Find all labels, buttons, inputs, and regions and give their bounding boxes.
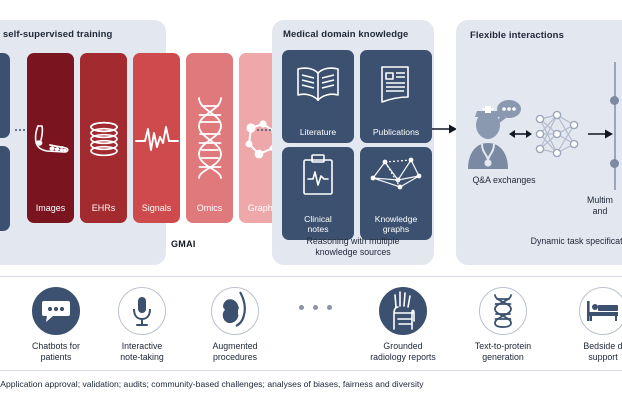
knowledge-card-label: Knowledge graphs [360, 214, 432, 234]
modality-card-images[interactable]: Images [27, 53, 74, 223]
application-label: Text-to-protein generation [466, 341, 540, 362]
footer-bar: : Application approval; validation; audi… [0, 370, 622, 401]
knowledge-card-publications[interactable]: Publications [360, 50, 432, 143]
stomach-endoscopy-icon [211, 287, 259, 335]
knowledge-card-label: Publications [360, 127, 432, 137]
document-pages-icon [360, 60, 432, 110]
modality-label: Omics [186, 203, 233, 213]
modality-card-signals[interactable]: Signals [133, 53, 180, 223]
modality-label: Signals [133, 203, 180, 213]
knowledge-card-label: Clinical notes [282, 214, 354, 234]
application-interactive-note-taking[interactable]: Interactive note-taking [105, 287, 179, 362]
bidirectional-arrow-icon [509, 127, 532, 145]
application-grounded-radiology-reports[interactable]: Grounded radiology reports [366, 287, 440, 362]
knowledge-card-literature[interactable]: Literature [282, 50, 354, 143]
clipboard-ecg-icon [282, 153, 354, 197]
partial-card-bottom [0, 146, 10, 231]
panel-interactions-title: Flexible interactions [470, 30, 564, 41]
modality-label: EHRs [80, 203, 127, 213]
open-book-icon [282, 60, 354, 110]
knowledge-card-clinical-notes[interactable]: Clinical notes [282, 147, 354, 240]
application-label: Interactive note-taking [105, 341, 179, 362]
dna-helix-icon [186, 93, 233, 183]
application-label: Augmented procedures [198, 341, 272, 362]
timeline-axis [614, 62, 616, 190]
timeline-node-top [610, 96, 619, 105]
microphone-icon [118, 287, 166, 335]
ecg-waveform-icon [133, 105, 180, 175]
multimodal-output-caption: Multim and [560, 195, 622, 216]
application-bedside-decision-support[interactable]: Bedside d support [566, 287, 622, 362]
node-graph-icon [360, 155, 432, 197]
application-chatbots-for-patients[interactable]: Chatbots for patients [19, 287, 93, 362]
database-icon [80, 105, 127, 175]
knowledge-card-label: Literature [282, 127, 354, 137]
speech-bubble-icon [32, 287, 80, 335]
application-label: Chatbots for patients [19, 341, 93, 362]
application-augmented-procedures[interactable]: Augmented procedures [198, 287, 272, 362]
applications-row: s Chatbots for patients [0, 276, 622, 371]
knowledge-caption: Reasoning with multiple knowledge source… [276, 236, 430, 257]
panel-training-title: al self-supervised training [0, 29, 112, 40]
footer-text: : Application approval; validation; audi… [0, 379, 424, 389]
application-label: Grounded radiology reports [366, 341, 440, 362]
knowledge-card-knowledge-graphs[interactable]: Knowledge graphs [360, 147, 432, 240]
applications-ellipsis [299, 305, 332, 310]
panel-knowledge-title: Medical domain knowledge [283, 29, 408, 40]
application-label: Bedside d support [566, 341, 622, 362]
application-text-to-protein-generation[interactable]: Text-to-protein generation [466, 287, 540, 362]
timeline-node-bottom [610, 159, 619, 168]
figure-root: al self-supervised training [0, 0, 622, 400]
qa-exchanges-label: Q&A exchanges [466, 175, 542, 186]
dna-helix-icon [479, 287, 527, 335]
output-arrow-icon [588, 127, 614, 145]
hand-xray-icon [379, 287, 427, 335]
dynamic-task-specification-caption: Dynamic task specificatio [500, 236, 622, 247]
hospital-bed-icon [579, 287, 622, 335]
flow-arrow-icon [432, 122, 458, 140]
foot-xray-icon [27, 105, 74, 175]
modality-label: Images [27, 203, 74, 213]
gmai-label: GMAI [171, 239, 196, 249]
neural-network-icon [531, 107, 583, 166]
modality-card-omics[interactable]: Omics [186, 53, 233, 223]
partial-card-top [0, 53, 10, 138]
modality-card-ehrs[interactable]: EHRs [80, 53, 127, 223]
